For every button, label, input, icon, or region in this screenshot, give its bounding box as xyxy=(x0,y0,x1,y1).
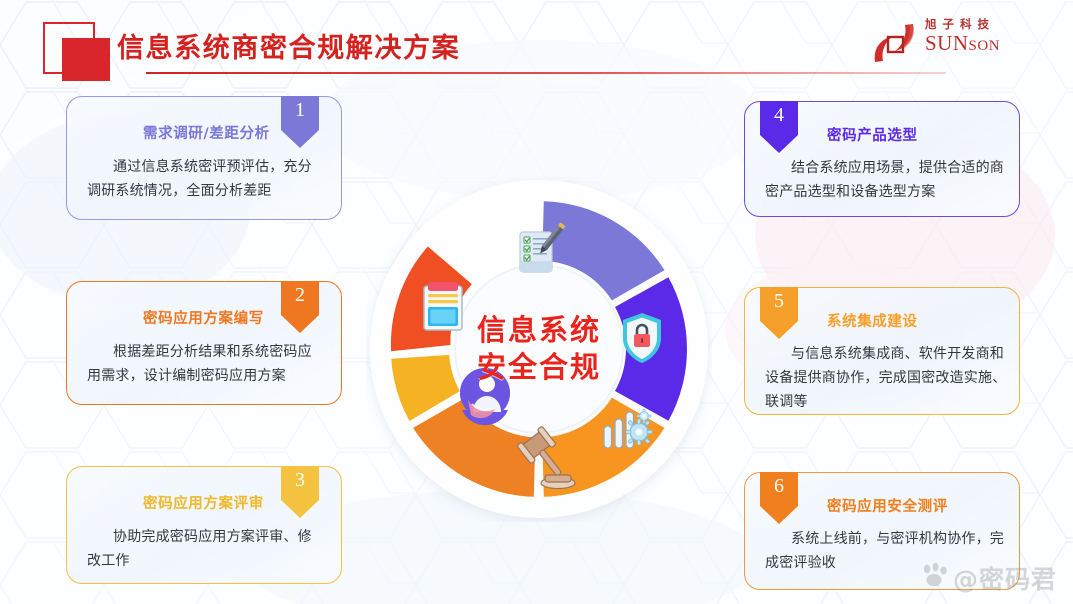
card-number-6: 6 xyxy=(760,475,798,498)
card-body-4: 结合系统应用场景，提供合适的商密产品选型和设备选型方案 xyxy=(765,156,1005,204)
watermark-text: @密码君 xyxy=(953,560,1057,596)
process-donut-chart xyxy=(366,176,712,522)
card-number-2: 2 xyxy=(281,284,319,307)
card-title-3: 密码应用方案评审 xyxy=(143,492,264,513)
logo-en-name: SUNSON xyxy=(925,33,1055,56)
slide-header: 信息系统商密合规解决方案 旭子科技 SUNSON xyxy=(0,0,1073,84)
decor-square-filled xyxy=(62,38,110,81)
card-number-5: 5 xyxy=(760,290,798,313)
card-number-3: 3 xyxy=(281,469,319,492)
baidu-paw-icon: du xyxy=(920,562,950,594)
svg-text:du: du xyxy=(930,581,941,588)
card-body-1: 通过信息系统密评预评估，充分调研系统情况，全面分析差距 xyxy=(87,155,325,203)
company-logo: 旭子科技 SUNSON xyxy=(869,17,1055,69)
document-notepad-icon xyxy=(424,282,462,330)
card-number-1: 1 xyxy=(281,99,319,122)
card-badge-1: 1 xyxy=(281,96,319,148)
title-underline xyxy=(146,72,946,74)
card-badge-2: 2 xyxy=(281,281,319,333)
card-title-2: 密码应用方案编写 xyxy=(143,307,264,328)
card-title-6: 密码应用安全测评 xyxy=(827,495,948,516)
logo-en-secondary: SON xyxy=(969,38,1001,54)
card-body-3: 协助完成密码应用方案评审、修改工作 xyxy=(87,525,325,573)
user-person-icon xyxy=(460,368,510,425)
logo-mark-icon xyxy=(869,21,921,67)
card-title-4: 密码产品选型 xyxy=(827,124,918,145)
card-number-4: 4 xyxy=(760,104,798,127)
card-body-2: 根据差距分析结果和系统密码应用需求，设计编制密码应用方案 xyxy=(87,340,325,388)
card-badge-3: 3 xyxy=(281,466,319,518)
watermark: du @密码君 xyxy=(920,560,1057,596)
card-badge-6: 6 xyxy=(760,472,798,524)
card-title-5: 系统集成建设 xyxy=(827,310,918,331)
page-title: 信息系统商密合规解决方案 xyxy=(117,26,460,65)
card-title-1: 需求调研/差距分析 xyxy=(143,122,270,143)
card-badge-5: 5 xyxy=(760,287,798,339)
card-badge-4: 4 xyxy=(760,101,798,153)
logo-en-primary: SUN xyxy=(925,31,969,55)
card-body-5: 与信息系统集成商、软件开发商和设备提供商协作，完成国密改造实施、联调等 xyxy=(765,342,1007,414)
logo-cn-name: 旭子科技 xyxy=(925,17,1055,32)
slide-canvas: 信息系统商密合规解决方案 旭子科技 SUNSON 需求调研/差距分析 通过 xyxy=(0,0,1073,604)
